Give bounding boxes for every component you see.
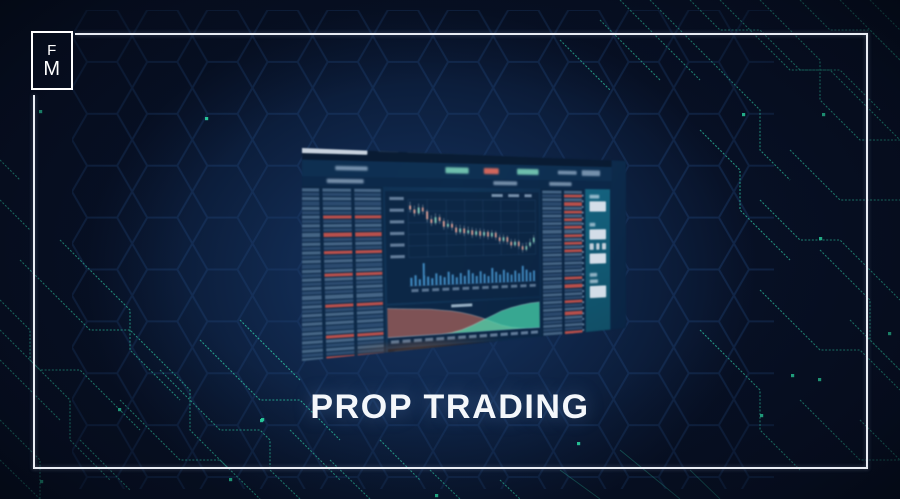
subbar-meta <box>558 171 577 175</box>
data-cell <box>543 226 562 229</box>
tab-label <box>493 181 517 185</box>
scroll-dot <box>583 346 585 348</box>
data-cell <box>564 234 582 237</box>
data-cell <box>295 362 323 368</box>
data-cell <box>291 206 320 209</box>
scroll-dot <box>582 285 584 287</box>
ticket-price-input[interactable] <box>590 229 606 239</box>
scroll-dot <box>582 223 584 225</box>
data-cell <box>354 202 381 205</box>
scroll-dot <box>582 335 584 337</box>
order-label <box>490 343 508 347</box>
data-cell <box>292 233 321 237</box>
candlestick-chart[interactable] <box>385 191 540 304</box>
frame-top-line <box>75 33 868 35</box>
data-cell <box>323 188 351 192</box>
scroll-dot <box>582 273 584 275</box>
data-cell <box>564 249 582 252</box>
data-cell <box>354 198 381 201</box>
order-book-columns[interactable] <box>540 189 584 358</box>
data-cell <box>358 361 385 366</box>
scroll-dot <box>582 234 584 236</box>
scroll-dot <box>583 340 585 342</box>
data-cell <box>324 250 352 254</box>
data-cell <box>291 197 320 201</box>
quote-bid <box>445 167 468 174</box>
data-cell <box>357 357 384 362</box>
scroll-dot <box>582 251 584 253</box>
topbar-meta <box>544 152 560 155</box>
scroll-dot <box>582 312 584 314</box>
ticket-symbol-input[interactable] <box>589 201 606 211</box>
quote-ask <box>484 168 499 174</box>
data-cell <box>292 247 321 251</box>
scroll-dot <box>582 217 584 219</box>
topbar-title <box>407 148 480 154</box>
ticket-summary-line <box>590 273 597 277</box>
subbar-label <box>335 166 368 171</box>
scroll-dot <box>582 212 584 214</box>
data-cell <box>542 206 561 209</box>
data-cell <box>327 359 354 364</box>
data-cell <box>292 242 321 246</box>
scroll-dots <box>582 195 584 352</box>
data-cell <box>543 238 562 241</box>
data-cell <box>355 237 382 241</box>
data-cell <box>543 351 562 355</box>
data-cell <box>291 202 320 205</box>
data-cell <box>564 241 582 244</box>
data-cell <box>324 242 352 246</box>
data-cell <box>292 238 321 242</box>
data-cell <box>323 211 351 214</box>
data-column[interactable] <box>542 191 562 356</box>
data-cell <box>543 335 562 339</box>
data-cell <box>543 343 562 347</box>
subbar-value <box>582 170 600 176</box>
data-cell <box>355 245 382 249</box>
data-cell <box>564 222 582 225</box>
place-order-button[interactable] <box>590 285 606 298</box>
data-cell <box>355 254 382 258</box>
scroll-dot <box>582 195 584 197</box>
data-cell <box>293 260 322 264</box>
topbar-label <box>378 147 399 152</box>
scroll-dot <box>582 323 584 325</box>
finance-magnates-logo[interactable]: F M <box>31 31 73 90</box>
data-cell <box>564 195 582 198</box>
data-cell <box>354 215 381 218</box>
data-cell <box>564 245 582 248</box>
data-cell <box>355 250 382 254</box>
data-cell <box>323 197 351 200</box>
order-quantity-input[interactable] <box>440 354 480 366</box>
scroll-dot <box>582 229 584 231</box>
data-cell <box>564 214 582 217</box>
ticket-summary-line <box>590 279 599 283</box>
data-cell <box>564 199 582 202</box>
data-cell <box>542 214 561 217</box>
data-cell <box>323 206 351 209</box>
ticket-heading <box>589 195 599 199</box>
data-cell <box>292 256 321 260</box>
scroll-dot <box>582 268 584 270</box>
data-cell <box>542 191 561 194</box>
data-cell <box>564 203 582 206</box>
data-cell <box>295 357 323 363</box>
data-cell <box>292 229 321 233</box>
data-cell <box>564 218 582 221</box>
scroll-dot <box>582 301 584 303</box>
data-cell <box>324 220 352 224</box>
page-title: PROP TRADING <box>0 388 900 427</box>
data-cell <box>327 355 354 360</box>
data-column[interactable] <box>291 188 324 376</box>
data-cell <box>564 334 582 338</box>
data-cell <box>564 345 582 349</box>
trading-platform-screenshot <box>296 142 632 367</box>
data-cell <box>354 206 381 209</box>
scroll-dot <box>582 240 584 242</box>
data-cell <box>355 228 382 232</box>
data-cell <box>324 224 352 228</box>
order-ticket-panel[interactable] <box>585 189 610 354</box>
data-cell <box>565 349 583 353</box>
tab-label <box>549 182 571 186</box>
order-label <box>519 341 531 345</box>
data-cell <box>291 215 320 219</box>
data-cell <box>354 193 381 197</box>
ticket-label <box>589 223 595 227</box>
data-cell <box>543 347 562 351</box>
data-cell <box>564 330 582 334</box>
tab-label <box>327 179 364 184</box>
data-cell <box>291 193 320 197</box>
data-cell <box>542 195 561 198</box>
data-cell <box>564 342 582 346</box>
scroll-dot <box>582 318 584 320</box>
search-input[interactable] <box>299 140 368 155</box>
data-column[interactable] <box>323 188 355 373</box>
logo-letter-f: F <box>47 43 57 58</box>
data-cell <box>292 224 321 228</box>
scroll-dot <box>582 290 584 292</box>
data-cell <box>542 222 561 225</box>
scroll-dot <box>582 245 584 247</box>
data-cell <box>292 220 321 224</box>
data-cell <box>542 199 561 202</box>
data-cell <box>543 246 562 249</box>
order-label <box>426 348 448 353</box>
data-cell <box>355 232 382 236</box>
data-cell <box>291 211 320 214</box>
scroll-dot <box>582 257 584 259</box>
data-cell <box>292 251 321 255</box>
data-cell <box>324 246 352 250</box>
data-column[interactable] <box>564 191 583 354</box>
data-cell <box>354 219 381 223</box>
data-cell <box>324 259 352 263</box>
screen-interface <box>285 135 612 381</box>
scroll-dot <box>582 329 584 331</box>
data-cell <box>324 233 352 237</box>
data-cell <box>324 237 352 241</box>
data-cell <box>564 226 582 229</box>
order-label <box>458 345 479 350</box>
promo-banner: F M PROP TRADING <box>0 0 900 499</box>
data-cell <box>564 338 582 342</box>
data-cell <box>543 250 562 253</box>
scroll-dot <box>582 262 584 264</box>
quote-last <box>517 169 539 175</box>
logo-letter-m: M <box>43 59 60 79</box>
data-cell <box>564 230 582 233</box>
ticket-side-toggle[interactable] <box>590 243 606 250</box>
scroll-dot <box>582 307 584 309</box>
frame-bottom-line <box>33 467 868 469</box>
data-cell <box>542 210 561 213</box>
data-cell <box>355 241 382 245</box>
scroll-dot <box>582 279 584 281</box>
data-cell <box>542 203 561 206</box>
scroll-dot <box>582 200 584 202</box>
ticket-volume-input[interactable] <box>590 253 606 264</box>
data-cell <box>543 230 562 233</box>
topbar-quote-up <box>566 151 588 157</box>
data-cell <box>564 191 582 194</box>
scroll-dot <box>582 296 584 298</box>
data-cell <box>564 210 582 213</box>
data-cell <box>543 242 562 245</box>
data-cell <box>354 211 381 214</box>
data-cell <box>564 238 582 241</box>
data-cell <box>543 234 562 237</box>
scroll-dot <box>582 206 584 208</box>
data-cell <box>323 215 351 219</box>
data-cell <box>355 224 382 228</box>
data-cell <box>323 193 351 197</box>
data-cell <box>354 189 381 193</box>
data-cell <box>564 207 582 210</box>
data-cell <box>324 228 352 232</box>
data-cell <box>291 188 320 192</box>
data-cell <box>324 255 352 259</box>
data-cell <box>542 218 561 221</box>
data-cell <box>323 202 351 205</box>
data-cell <box>543 339 562 343</box>
